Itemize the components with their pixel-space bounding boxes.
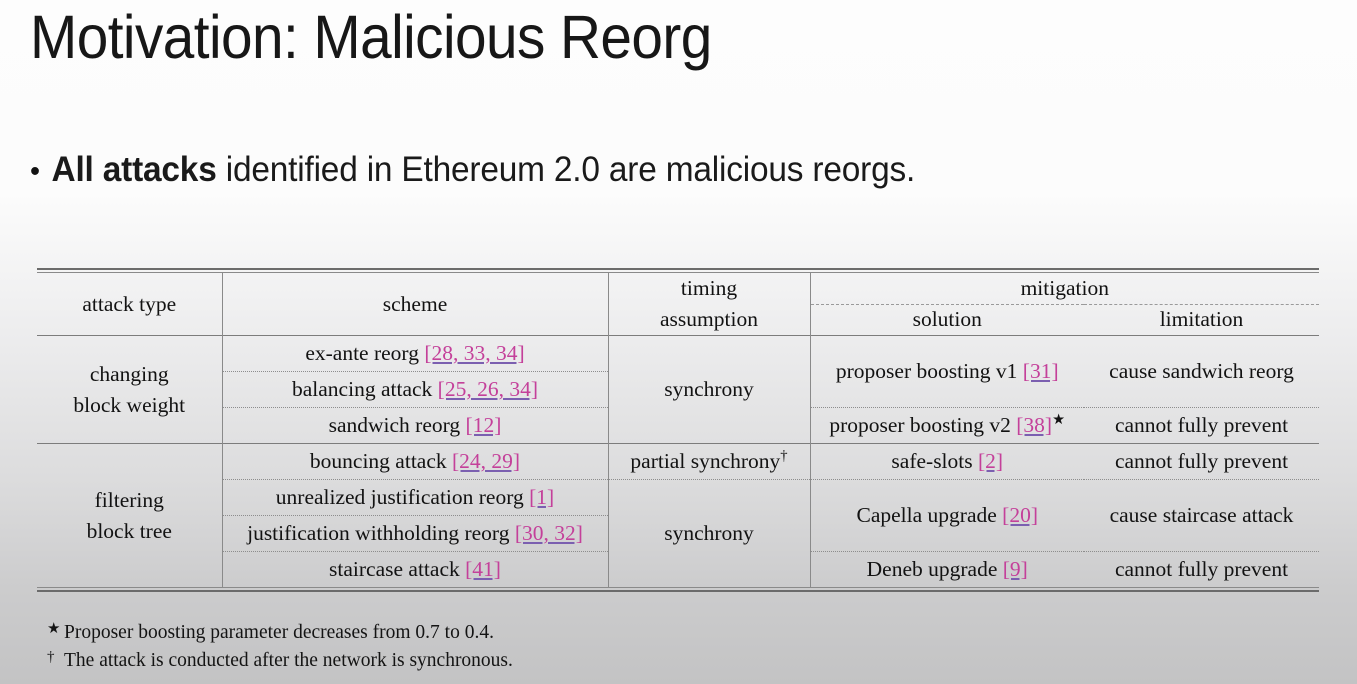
cell-scheme-1-2: justification withholding reorg [30, 32] [222, 516, 608, 552]
citation-link[interactable]: [9] [1003, 557, 1028, 581]
citation-link[interactable]: [1] [529, 485, 554, 509]
scheme-name: sandwich reorg [329, 413, 466, 437]
cell-timing-0-0: synchrony [608, 336, 810, 444]
table-row: changing block weight ex-ante reorg [28,… [37, 336, 1319, 372]
cell-solution-1-1: Capella upgrade [20] [810, 480, 1084, 552]
cell-solution-0-1: proposer boosting v2 [38]★ [810, 408, 1084, 444]
bullet-marker-icon: • [30, 157, 40, 187]
scheme-name: balancing attack [292, 377, 438, 401]
header-mitigation: mitigation [810, 273, 1319, 304]
footnote-text: The attack is conducted after the networ… [64, 647, 513, 675]
attack-type-line2: block weight [37, 390, 222, 421]
table-bottom-rule-inner [37, 590, 1319, 592]
citation-link[interactable]: [30, 32] [515, 521, 583, 545]
citation-link[interactable]: [25, 26, 34] [438, 377, 538, 401]
table-header-group: attack type scheme timing mitigation ass… [37, 273, 1319, 336]
timing-text: synchrony [664, 521, 754, 545]
attack-type-line2: block tree [37, 516, 222, 547]
citation-link[interactable]: [12] [466, 413, 502, 437]
attacks-table: attack type scheme timing mitigation ass… [37, 273, 1319, 587]
cell-scheme-0-1: balancing attack [25, 26, 34] [222, 372, 608, 408]
footnote-marker-star: ★ [47, 619, 64, 640]
footnotes: ★ Proposer boosting parameter decreases … [47, 619, 513, 674]
cell-limitation-1-2: cannot fully prevent [1084, 552, 1319, 588]
solution-name: Deneb upgrade [867, 557, 1003, 581]
attack-type-line1: filtering [37, 485, 222, 516]
header-scheme: scheme [222, 273, 608, 336]
timing-text: synchrony [664, 377, 754, 401]
cell-timing-1-0: partial synchrony† [608, 444, 810, 480]
bullet-text-rest: identified in Ethereum 2.0 are malicious… [217, 150, 915, 189]
table-group-changing-block-weight: changing block weight ex-ante reorg [28,… [37, 336, 1319, 444]
cell-solution-0-0: proposer boosting v1 [31] [810, 336, 1084, 408]
citation-link[interactable]: [2] [978, 449, 1003, 473]
solution-name: proposer boosting v2 [829, 413, 1016, 437]
table-row: filtering block tree bouncing attack [24… [37, 444, 1319, 480]
header-timing-line2: assumption [608, 304, 810, 336]
table-row: unrealized justification reorg [1] synch… [37, 480, 1319, 516]
cell-scheme-0-0: ex-ante reorg [28, 33, 34] [222, 336, 608, 372]
cell-limitation-1-0: cannot fully prevent [1084, 444, 1319, 480]
cell-scheme-0-2: sandwich reorg [12] [222, 408, 608, 444]
cell-scheme-1-3: staircase attack [41] [222, 552, 608, 588]
citation-link[interactable]: [28, 33, 34] [424, 341, 524, 365]
footnote-star: ★ Proposer boosting parameter decreases … [47, 619, 513, 647]
citation-link[interactable]: [24, 29] [452, 449, 520, 473]
cell-solution-1-2: Deneb upgrade [9] [810, 552, 1084, 588]
table-top-rule-outer [37, 268, 1319, 270]
footnote-marker-dagger: † [47, 647, 64, 668]
footnote-text: Proposer boosting parameter decreases fr… [64, 619, 494, 647]
header-timing-line1: timing [608, 273, 810, 304]
header-attack-type: attack type [37, 273, 222, 336]
citation-link[interactable]: [20] [1002, 503, 1038, 527]
footnote-marker-dagger: † [780, 448, 787, 464]
bullet-item: • All attacks identified in Ethereum 2.0… [30, 150, 915, 190]
citation-link[interactable]: [41] [465, 557, 501, 581]
bullet-text-bold: All attacks [52, 150, 217, 189]
header-limitation: limitation [1084, 304, 1319, 336]
header-row-1: attack type scheme timing mitigation [37, 273, 1319, 304]
footnote-marker-star: ★ [1052, 412, 1065, 428]
solution-name: Capella upgrade [857, 503, 1003, 527]
header-solution: solution [810, 304, 1084, 336]
table-group-filtering-block-tree: filtering block tree bouncing attack [24… [37, 444, 1319, 588]
cell-attack-type-1: filtering block tree [37, 444, 222, 588]
cell-attack-type-0: changing block weight [37, 336, 222, 444]
scheme-name: unrealized justification reorg [276, 485, 529, 509]
footnote-dagger: † The attack is conducted after the netw… [47, 647, 513, 675]
scheme-name: justification withholding reorg [247, 521, 515, 545]
scheme-name: staircase attack [329, 557, 465, 581]
table-bottom-rule-outer [37, 587, 1319, 588]
cell-timing-1-1: synchrony [608, 480, 810, 588]
citation-link[interactable]: [38] [1016, 413, 1052, 437]
solution-name: safe-slots [891, 449, 978, 473]
attack-type-line1: changing [37, 359, 222, 390]
cell-scheme-1-1: unrealized justification reorg [1] [222, 480, 608, 516]
bullet-text: All attacks identified in Ethereum 2.0 a… [52, 150, 916, 190]
scheme-name: ex-ante reorg [305, 341, 424, 365]
page-title: Motivation: Malicious Reorg [30, 2, 712, 74]
timing-text: partial synchrony [630, 449, 780, 473]
cell-limitation-0-0: cause sandwich reorg [1084, 336, 1319, 408]
solution-name: proposer boosting v1 [836, 359, 1023, 383]
cell-scheme-1-0: bouncing attack [24, 29] [222, 444, 608, 480]
cell-solution-1-0: safe-slots [2] [810, 444, 1084, 480]
attacks-table-wrapper: attack type scheme timing mitigation ass… [37, 268, 1319, 592]
cell-limitation-1-1: cause staircase attack [1084, 480, 1319, 552]
scheme-name: bouncing attack [310, 449, 452, 473]
cell-limitation-0-1: cannot fully prevent [1084, 408, 1319, 444]
citation-link[interactable]: [31] [1023, 359, 1059, 383]
